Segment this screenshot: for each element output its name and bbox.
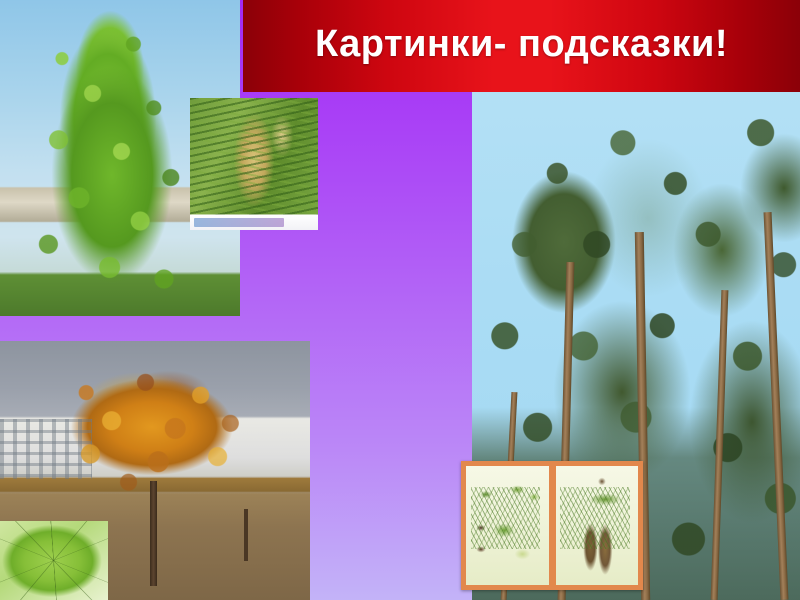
green-maple-leaf-photo[interactable] <box>0 521 108 600</box>
botanical-plate-spruce[interactable] <box>464 464 551 587</box>
maple-trunk <box>150 481 157 586</box>
slide-canvas: Картинки- подсказки! <box>0 0 800 600</box>
page-title: Картинки- подсказки! <box>315 25 728 67</box>
autumn-crown-texture <box>48 367 260 495</box>
title-banner: Картинки- подсказки! <box>243 0 800 92</box>
botanical-plate-cones[interactable] <box>554 464 641 587</box>
pine-needles-closeup-photo[interactable] <box>190 98 318 230</box>
image-watermark <box>194 218 284 227</box>
leaf-veins <box>0 521 108 600</box>
background-sapling-trunk <box>244 509 248 561</box>
spruce-needles-drawing <box>471 487 540 549</box>
botanical-plates-inset[interactable] <box>461 461 643 590</box>
conifer-foliage-texture <box>28 18 198 308</box>
cone-branch-drawing <box>560 487 629 549</box>
